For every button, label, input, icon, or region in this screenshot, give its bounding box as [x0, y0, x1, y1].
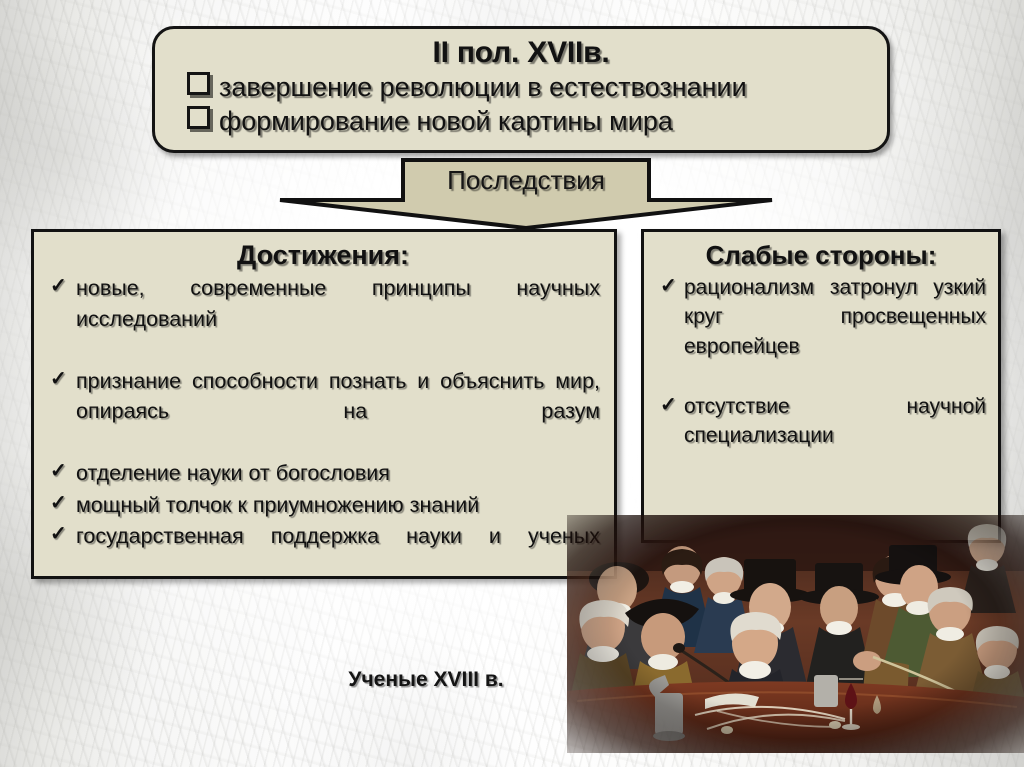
illustration-caption: Ученые XVIII в.	[276, 668, 576, 692]
page-title: II пол. XVIIв.	[169, 35, 873, 70]
achievements-item-label: новые, современные принципы научных иссл…	[76, 273, 600, 365]
list-item: отделение науки от богословия	[46, 458, 600, 489]
consequences-arrow: Последствия	[276, 156, 776, 232]
list-item: мощный толчок к приумножению знаний	[46, 490, 600, 521]
achievements-item-label: отделение науки от богословия	[76, 458, 600, 489]
list-item: отсутствие научной специализации	[656, 392, 986, 480]
header-bullet-list: завершение революции в естествознании фо…	[169, 70, 873, 138]
weaknesses-title: Слабые стороны:	[656, 240, 986, 271]
achievements-panel: Достижения: новые, современные принципы …	[31, 229, 617, 579]
header-bullet-item: формирование новой картины мира	[187, 104, 873, 138]
down-arrow-icon	[276, 156, 776, 232]
list-item: новые, современные принципы научных иссл…	[46, 273, 600, 365]
header-bullet-label: формирование новой картины мира	[219, 104, 673, 138]
square-bullet-icon	[187, 72, 210, 95]
weaknesses-item-label: рационализм затронул узкий круг просвеще…	[684, 273, 986, 391]
achievements-item-label: мощный толчок к приумножению знаний	[76, 490, 600, 521]
slide-canvas: II пол. XVIIв. завершение революции в ес…	[0, 0, 1024, 767]
square-bullet-icon	[187, 106, 210, 129]
list-item: рационализм затронул узкий круг просвеще…	[656, 273, 986, 391]
achievements-item-label: признание способности познать и объяснит…	[76, 366, 600, 458]
list-item: признание способности познать и объяснит…	[46, 366, 600, 458]
header-box: II пол. XVIIв. завершение революции в ес…	[152, 26, 890, 153]
weaknesses-panel: Слабые стороны: рационализм затронул узк…	[641, 229, 1001, 543]
weaknesses-list: рационализм затронул узкий круг просвеще…	[656, 273, 986, 480]
painting-illustration	[567, 515, 1024, 753]
scientists-painting	[567, 515, 1024, 753]
list-item: государственная поддержка науки и ученых	[46, 521, 600, 582]
achievements-list: новые, современные принципы научных иссл…	[46, 273, 600, 582]
achievements-title: Достижения:	[46, 240, 600, 271]
header-bullet-item: завершение революции в естествознании	[187, 70, 873, 104]
achievements-item-label: государственная поддержка науки и ученых	[76, 521, 600, 582]
header-bullet-label: завершение революции в естествознании	[219, 70, 747, 104]
weaknesses-item-label: отсутствие научной специализации	[684, 392, 986, 480]
